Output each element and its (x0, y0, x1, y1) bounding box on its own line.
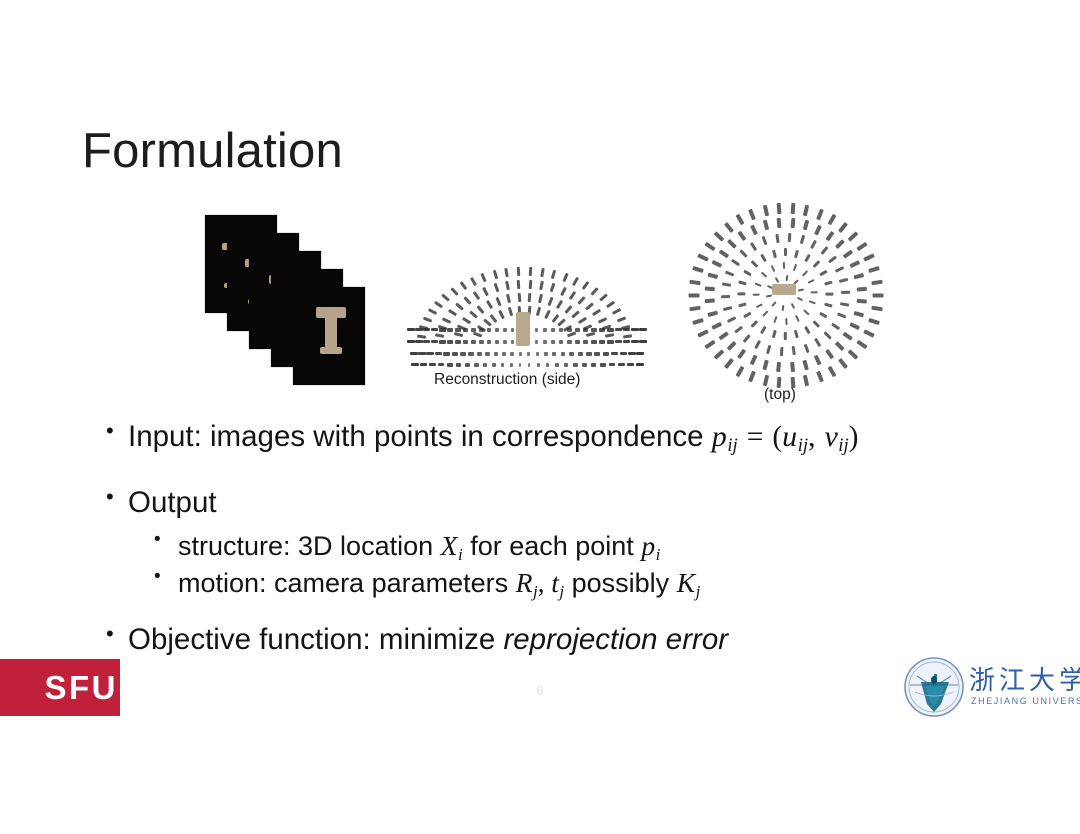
camera-marker (794, 330, 799, 338)
math-X-i: Xi (441, 530, 463, 561)
camera-marker (704, 242, 715, 252)
camera-marker (572, 277, 579, 286)
camera-marker (824, 302, 832, 307)
camera-marker (586, 352, 592, 356)
camera-marker (823, 331, 832, 340)
camera-marker (591, 340, 597, 344)
camera-marker (558, 318, 567, 326)
camera-marker (777, 362, 781, 372)
camera-marker (410, 352, 418, 355)
camera-marker (854, 273, 865, 279)
camera-marker (503, 328, 507, 332)
camera-marker (856, 340, 867, 350)
camera-marker (819, 270, 827, 276)
camera-marker (415, 340, 423, 343)
camera-marker (705, 299, 715, 303)
camera-marker (599, 293, 608, 301)
input-image-stack (205, 215, 370, 385)
camera-marker (754, 340, 761, 349)
camera-marker (788, 233, 792, 242)
camera-marker (808, 279, 815, 284)
math-p-i: pi (641, 530, 660, 561)
camera-marker (487, 328, 491, 332)
camera-marker (439, 328, 446, 332)
camera-marker (689, 306, 700, 312)
camera-marker (463, 296, 471, 305)
camera-marker (435, 333, 444, 338)
camera-marker (802, 220, 808, 231)
camera-marker (810, 239, 817, 248)
camera-marker (578, 317, 587, 324)
camera-marker (505, 281, 510, 290)
camera-marker (599, 328, 605, 332)
camera-marker (575, 328, 580, 332)
camera-marker (551, 270, 557, 280)
camera-marker (739, 281, 747, 286)
camera-marker (786, 275, 789, 281)
camera-marker (582, 281, 590, 290)
camera-marker (828, 255, 837, 263)
camera-marker (567, 331, 577, 337)
camera-marker (743, 312, 751, 318)
bullet-output: Output (92, 486, 217, 519)
camera-marker (750, 241, 757, 250)
camera-marker (835, 341, 845, 351)
camera-marker (517, 267, 521, 276)
camera-marker (447, 340, 453, 344)
math-p-ij: pij (712, 419, 738, 453)
camera-marker (560, 286, 567, 295)
camera-marker (485, 352, 489, 356)
camera-marker (612, 308, 621, 315)
camera-marker (731, 259, 740, 267)
bullet-input-text: Input: images with points in corresponde… (128, 420, 712, 453)
camera-marker (784, 332, 787, 340)
bullet-objective-text: Objective function: minimize (128, 623, 503, 656)
camera-marker (607, 340, 614, 344)
camera-marker (441, 293, 450, 301)
camera-marker (816, 371, 824, 383)
camera-marker (836, 313, 846, 319)
camera-marker (798, 289, 804, 292)
camera-marker (628, 352, 636, 355)
camera-marker (537, 363, 540, 367)
camera-marker (848, 231, 859, 241)
camera-marker (540, 268, 545, 277)
camera-marker (561, 352, 565, 356)
math-v-ij: vij (824, 419, 848, 453)
camera-marker (780, 347, 784, 356)
camera-marker (727, 341, 737, 351)
camera-marker (804, 326, 810, 334)
camera-marker (863, 253, 875, 261)
camera-marker (411, 363, 419, 366)
camera-marker (470, 277, 477, 286)
camera-marker (771, 301, 777, 307)
camera-marker (813, 261, 821, 269)
camera-marker (586, 332, 596, 337)
camera-marker (689, 280, 700, 286)
camera-marker (459, 281, 467, 290)
camera-marker (793, 264, 798, 271)
camera-marker (704, 340, 715, 350)
camera-marker (591, 363, 597, 367)
camera-marker (591, 328, 597, 332)
bullet-output-text: Output (128, 486, 217, 519)
camera-marker (551, 340, 555, 344)
camera-marker (615, 328, 622, 331)
camera-marker (760, 254, 766, 262)
camera-marker (772, 330, 777, 338)
camera-marker (849, 261, 860, 268)
camera-marker (481, 273, 487, 283)
camera-marker (578, 352, 583, 356)
bullet-structure-mid: for each point (463, 531, 642, 561)
camera-marker (802, 359, 808, 370)
caption-reconstruction-side: Reconstruction (side) (434, 371, 580, 389)
camera-marker (631, 340, 639, 343)
math-R-j: Rj (516, 567, 538, 598)
camera-marker (551, 313, 559, 322)
camera-marker (450, 287, 458, 296)
camera-marker (510, 363, 513, 367)
camera-marker (431, 340, 438, 343)
camera-marker (423, 328, 430, 331)
camera-marker (431, 328, 438, 331)
camera-marker (825, 231, 834, 241)
camera-marker (435, 352, 442, 355)
camera-marker (750, 224, 757, 235)
camera-marker (434, 301, 443, 309)
camera-marker (739, 302, 747, 307)
camera-marker (535, 328, 538, 332)
camera-marker (504, 268, 509, 277)
camera-marker (790, 303, 795, 309)
camera-marker (636, 363, 644, 366)
camera-marker (623, 328, 630, 331)
reconstructed-object (772, 284, 796, 295)
camera-marker (483, 286, 490, 295)
camera-marker (611, 352, 618, 355)
camera-marker (543, 340, 547, 344)
camera-marker (803, 375, 809, 387)
camera-marker (754, 282, 761, 287)
camera-marker (775, 233, 779, 242)
camera-marker (490, 313, 498, 322)
camera-marker (511, 328, 514, 332)
camera-marker (471, 340, 476, 344)
camera-marker (617, 316, 627, 322)
camera-marker (583, 328, 588, 332)
camera-marker (838, 358, 848, 369)
camera-marker (407, 328, 415, 331)
camera-marker (763, 359, 769, 370)
camera-marker (462, 317, 471, 324)
camera-marker (483, 363, 488, 367)
camera-marker (814, 224, 821, 235)
chess-rook-base (320, 347, 342, 355)
reconstruction-top-figure (678, 195, 890, 385)
bullet-structure: structure: 3D location Xi for each point… (92, 530, 660, 564)
camera-marker (784, 248, 787, 256)
camera-marker (712, 322, 723, 329)
camera-marker (871, 280, 882, 286)
math-u-ij: uij (782, 419, 808, 453)
camera-marker (777, 203, 782, 214)
camera-marker (494, 352, 498, 356)
math-t-j: tj (551, 567, 564, 598)
camera-marker (749, 371, 757, 383)
page-title: Formulation (82, 127, 343, 176)
bullet-motion: motion: camera parameters Rj, tj possibl… (92, 567, 700, 601)
camera-marker (727, 316, 736, 323)
camera-marker (740, 249, 749, 258)
camera-marker (835, 239, 845, 249)
camera-marker (692, 318, 704, 325)
camera-marker (528, 280, 532, 289)
camera-marker (455, 328, 461, 332)
camera-marker (777, 218, 781, 228)
camera-marker (592, 309, 601, 317)
camera-marker (723, 306, 733, 311)
camera-marker (572, 310, 581, 318)
camera-marker (840, 302, 849, 307)
math-paren-open: ( (772, 421, 782, 453)
camera-marker (705, 286, 715, 290)
camera-marker (856, 242, 867, 252)
camera-marker (750, 261, 758, 269)
camera-marker (636, 352, 644, 355)
camera-marker (868, 318, 880, 325)
camera-marker (502, 352, 506, 356)
camera-marker (766, 294, 772, 297)
camera-marker (495, 328, 499, 332)
camera-marker (868, 266, 880, 273)
camera-marker (854, 311, 865, 317)
camera-marker (623, 334, 632, 338)
camera-marker (814, 355, 821, 366)
camera-marker (738, 349, 747, 359)
camera-marker (569, 352, 574, 356)
camera-marker (790, 362, 794, 372)
camera-marker (605, 333, 614, 338)
camera-marker (539, 281, 544, 290)
camera-marker (477, 305, 485, 314)
camera-marker (856, 286, 866, 290)
camera-marker (816, 208, 824, 220)
camera-marker (454, 332, 464, 337)
camera-marker (749, 208, 757, 220)
camera-marker (736, 365, 745, 377)
caption-reconstruction-top: (top) (764, 386, 796, 404)
zhejiang-emblem-icon (903, 656, 965, 718)
camera-marker (825, 293, 833, 296)
camera-marker (824, 281, 832, 286)
camera-marker (839, 278, 849, 283)
camera-marker (718, 249, 728, 258)
math-equals: = (747, 421, 764, 453)
camera-marker (473, 331, 483, 337)
camera-marker (510, 352, 513, 356)
camera-marker (819, 312, 827, 318)
camera-marker (559, 328, 563, 332)
camera-marker (472, 291, 480, 300)
camera-marker (511, 340, 514, 344)
camera-marker (773, 316, 778, 323)
camera-marker (564, 363, 569, 367)
camera-marker (506, 294, 511, 303)
camera-marker (455, 302, 464, 310)
camera-marker (573, 363, 578, 367)
camera-marker (496, 296, 502, 306)
input-image-frame (293, 287, 365, 385)
camera-marker (547, 296, 553, 306)
camera-marker (712, 261, 723, 268)
camera-marker (770, 265, 775, 272)
camera-marker (799, 235, 805, 245)
camera-marker (556, 300, 563, 309)
camera-marker (692, 266, 704, 273)
camera-marker (721, 295, 730, 298)
camera-marker (871, 306, 882, 312)
camera-marker (802, 270, 808, 277)
bullet-objective: Objective function: minimize reprojectio… (92, 623, 728, 656)
camera-marker (697, 253, 709, 261)
camera-marker (814, 338, 821, 347)
camera-marker (707, 273, 718, 279)
bullet-objective-emphasis: reprojection error (503, 623, 728, 656)
camera-marker (551, 328, 555, 332)
camera-marker (550, 283, 556, 293)
camera-marker (718, 332, 728, 341)
camera-marker (825, 349, 834, 359)
camera-marker (863, 329, 875, 337)
camera-marker (734, 326, 743, 334)
camera-marker (783, 262, 786, 269)
reconstructed-object (516, 312, 530, 346)
camera-marker (848, 350, 859, 360)
camera-marker (760, 326, 766, 334)
camera-marker (442, 317, 452, 324)
camera-marker (479, 340, 484, 344)
camera-marker (594, 352, 600, 356)
camera-marker (838, 222, 848, 233)
math-comma-2: , (538, 568, 552, 598)
camera-marker (607, 328, 614, 332)
math-paren-close: ) (849, 421, 859, 453)
camera-marker (495, 340, 499, 344)
camera-marker (828, 365, 837, 377)
camera-marker (443, 352, 449, 356)
camera-marker (559, 340, 563, 344)
camera-marker (849, 322, 860, 329)
camera-marker (738, 231, 747, 241)
camera-marker (463, 328, 468, 332)
camera-marker (620, 352, 627, 355)
camera-marker (452, 352, 458, 356)
camera-marker (517, 280, 521, 289)
camera-marker (407, 340, 415, 343)
camera-marker (536, 352, 539, 356)
camera-marker (803, 309, 810, 315)
camera-marker (474, 363, 479, 367)
camera-marker (639, 328, 647, 331)
camera-marker (529, 267, 533, 276)
camera-marker (418, 352, 426, 355)
camera-marker (528, 363, 531, 367)
camera-marker (456, 363, 462, 367)
camera-marker (562, 273, 568, 283)
bullet-input: Input: images with points in corresponde… (92, 420, 858, 457)
math-comma: , (808, 421, 815, 453)
camera-marker (423, 316, 433, 322)
camera-marker (796, 297, 802, 301)
camera-marker (494, 283, 500, 293)
math-K-j: Kj (677, 567, 701, 598)
camera-marker (487, 340, 491, 344)
camera-marker (438, 363, 445, 366)
camera-marker (486, 300, 493, 309)
camera-marker (599, 340, 605, 344)
camera-marker (615, 340, 622, 343)
camera-marker (598, 317, 608, 324)
camera-marker (528, 293, 532, 302)
camera-marker (631, 328, 639, 331)
camera-marker (713, 350, 724, 360)
camera-marker (856, 299, 866, 303)
camera-marker (447, 363, 453, 367)
camera-marker (750, 320, 758, 328)
camera-marker (618, 363, 625, 366)
camera-marker (468, 352, 473, 356)
camera-marker (803, 204, 809, 216)
camera-marker (483, 318, 492, 326)
camera-marker (606, 301, 615, 309)
camera-marker (567, 340, 572, 344)
camera-marker (600, 363, 606, 367)
camera-marker (527, 352, 530, 356)
camera-marker (743, 334, 751, 343)
camera-marker (707, 311, 718, 317)
camera-marker (552, 352, 556, 356)
camera-marker (546, 363, 550, 367)
camera-marker (492, 363, 496, 367)
camera-marker (498, 310, 505, 319)
camera-marker (760, 272, 767, 278)
zhejiang-university-logo: 浙江大学 ZHEJIANG UNIVERSITY (903, 652, 1075, 724)
camera-marker (762, 310, 768, 317)
camera-marker (803, 343, 809, 353)
camera-marker (813, 320, 821, 328)
camera-marker (795, 315, 800, 322)
camera-marker (828, 214, 837, 226)
camera-marker (820, 246, 828, 255)
camera-marker (578, 296, 586, 305)
camera-marker (591, 287, 599, 296)
camera-marker (623, 340, 630, 343)
camera-marker (843, 332, 853, 341)
camera-marker (775, 277, 780, 283)
camera-marker (417, 334, 426, 338)
camera-marker (809, 301, 816, 306)
camera-marker (697, 329, 709, 337)
camera-marker (753, 293, 760, 296)
camera-marker (831, 323, 840, 331)
camera-marker (492, 270, 498, 280)
zhejiang-english-name: ZHEJIANG UNIVERSITY (971, 696, 1080, 706)
camera-marker (583, 340, 588, 344)
camera-marker (544, 352, 548, 356)
